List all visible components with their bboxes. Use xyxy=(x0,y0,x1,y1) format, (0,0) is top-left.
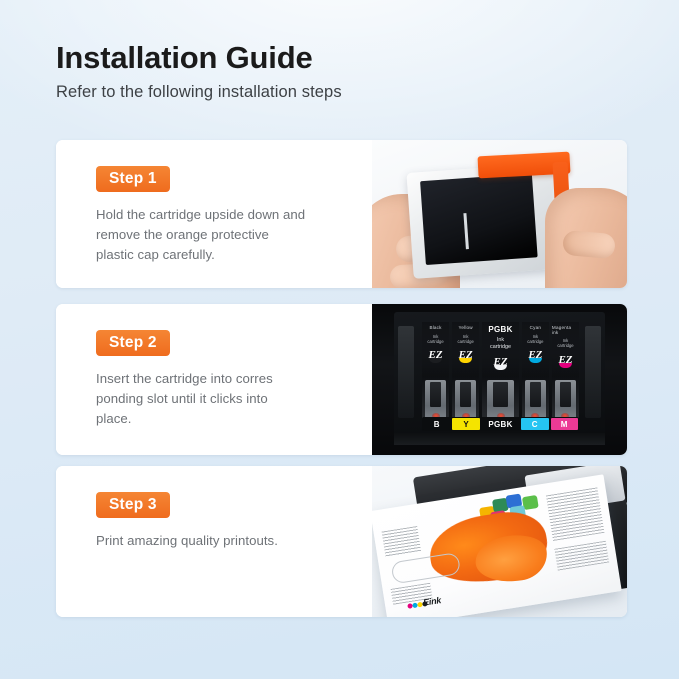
ez-logo-icon: EZ xyxy=(493,356,508,369)
ez-logo-icon: EZ xyxy=(528,349,543,362)
slot-color-label: Y xyxy=(452,418,479,430)
ink-cartridge xyxy=(406,163,557,279)
ez-logo-swoosh xyxy=(494,365,507,370)
cartridge-slot: CyanInk cartridgeEZ xyxy=(522,322,549,426)
right-finger xyxy=(562,230,616,259)
printer-carriage: BlackInk cartridgeEZYellowInk cartridgeE… xyxy=(394,312,605,445)
page-subtitle: Refer to the following installation step… xyxy=(56,83,616,102)
cartridge-slot: PGBKInk cartridgeEZ xyxy=(482,322,519,426)
cartridge-color-name: PGBK xyxy=(488,326,512,334)
cartridge-sub-label: Ink cartridge xyxy=(427,334,443,345)
step-1-photo xyxy=(372,140,627,288)
cartridge-color-name: Magenta ink xyxy=(552,326,579,335)
carriage-shelf xyxy=(394,433,605,445)
right-hand xyxy=(545,188,627,288)
step-card-1: Step 1 Hold the cartridge upside down an… xyxy=(56,140,627,288)
ez-logo-swoosh xyxy=(459,358,472,363)
cartridge-slot: Magenta inkInk cartridgeEZ xyxy=(552,322,579,426)
carriage-rail-right xyxy=(585,326,601,418)
step-1-badge: Step 1 xyxy=(96,166,170,192)
step-1-description: Hold the cartridge upside down and remov… xyxy=(96,205,350,265)
cartridge-tank-core xyxy=(560,382,572,407)
slot-color-label: B xyxy=(423,418,450,430)
step-2-text-panel: Step 2 Insert the cartridge into corres … xyxy=(56,304,372,455)
cartridge-slots: BlackInk cartridgeEZYellowInk cartridgeE… xyxy=(422,322,579,426)
cartridge-label-area: PGBKInk cartridgeEZ xyxy=(482,322,519,382)
cartridge-tank-core xyxy=(493,382,509,407)
cartridge-sub-label: Ink cartridge xyxy=(557,338,573,349)
cartridge-tank-core xyxy=(530,382,542,407)
step-2-description: Insert the cartridge into corres ponding… xyxy=(96,369,350,429)
step-3-badge: Step 3 xyxy=(96,492,170,518)
step-card-2: Step 2 Insert the cartridge into corres … xyxy=(56,304,627,455)
cartridge-label-area: Magenta inkInk cartridgeEZ xyxy=(552,322,579,382)
slot-color-label: C xyxy=(521,418,548,430)
carriage-rail-left xyxy=(398,326,414,418)
cartridge-label-area: BlackInk cartridgeEZ xyxy=(422,322,449,382)
printed-text-block xyxy=(382,526,422,557)
cartridge-sub-label: Ink cartridge xyxy=(490,337,511,351)
ez-logo-icon: EZ xyxy=(428,349,443,362)
step-3-description: Print amazing quality printouts. xyxy=(96,531,350,551)
ez-logo-swoosh xyxy=(529,358,542,363)
cartridge-color-name: Cyan xyxy=(530,326,542,331)
printed-text-block xyxy=(546,487,605,541)
step-card-3: Step 3 Print amazing quality printouts. xyxy=(56,466,627,617)
installation-guide-page: Installation Guide Refer to the followin… xyxy=(0,0,679,679)
printed-sheet: Eink xyxy=(372,474,622,617)
step-3-text-panel: Step 3 Print amazing quality printouts. xyxy=(56,466,372,617)
slot-color-label: M xyxy=(551,418,578,430)
cartridge-sub-label: Ink cartridge xyxy=(527,334,543,345)
page-title: Installation Guide xyxy=(56,40,616,76)
step-2-photo: BlackInk cartridgeEZYellowInk cartridgeE… xyxy=(372,304,627,455)
step-2-badge: Step 2 xyxy=(96,330,170,356)
cartridge-slot: YellowInk cartridgeEZ xyxy=(452,322,479,426)
step-1-text-panel: Step 1 Hold the cartridge upside down an… xyxy=(56,140,372,288)
ez-logo-icon: EZ xyxy=(558,354,573,367)
cartridge-tank-core xyxy=(460,382,472,407)
cartridge-color-name: Black xyxy=(429,326,441,331)
cartridge-color-name: Yellow xyxy=(459,326,473,331)
cartridge-slot: BlackInk cartridgeEZ xyxy=(422,322,449,426)
cartridge-tank-core xyxy=(430,382,442,407)
slot-color-label: PGBK xyxy=(482,418,519,430)
ez-logo-swoosh xyxy=(429,358,442,363)
cartridge-label-area: CyanInk cartridgeEZ xyxy=(522,322,549,382)
cartridge-label-area: YellowInk cartridgeEZ xyxy=(452,322,479,382)
page-header: Installation Guide Refer to the followin… xyxy=(56,40,616,102)
ez-logo-swoosh xyxy=(559,363,572,368)
ez-logo-icon: EZ xyxy=(458,349,473,362)
cartridge-sub-label: Ink cartridge xyxy=(458,334,474,345)
printed-oval-outline xyxy=(391,552,462,584)
slot-color-label-strip: BYPGBKCM xyxy=(422,417,579,431)
step-3-photo: Eink xyxy=(372,466,627,617)
printed-text-block xyxy=(554,541,609,571)
cartridge-black-face xyxy=(420,173,538,265)
